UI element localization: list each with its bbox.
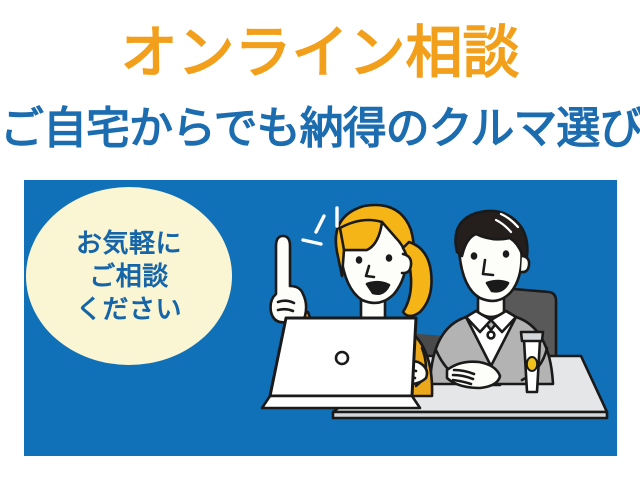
page-title: オンライン相談 [0,22,640,84]
woman-eye-left [356,256,363,264]
page-subtitle: ご自宅からでも納得のクルマ選びを [0,104,640,154]
consultation-illustration [204,180,617,456]
banner-root: オンライン相談 ご自宅からでも納得のクルマ選びを お気軽に ご相談 ください [0,0,640,480]
laptop-logo-icon [336,352,348,364]
man-eye-left [471,252,478,260]
woman-hand-pointing [271,236,307,324]
laptop-base [262,396,420,408]
man-ear [521,256,529,272]
sparkle-icon-3 [303,240,321,244]
man-eye-right [503,250,510,258]
illustration-panel: お気軽に ご相談 ください [24,180,617,456]
woman-ponytail [403,242,432,316]
table-front-edge [333,412,607,418]
woman-eye-right [386,254,393,262]
speech-bubble-line-1: お気軽に [76,227,182,259]
coffee-cup-logo-icon [527,357,537,371]
woman-ear [402,254,411,273]
coffee-cup-lid [521,332,543,341]
speech-bubble-line-3: ください [76,293,182,325]
speech-bubble-text: お気軽に ご相談 ください [26,187,232,365]
illustration-svg [204,180,617,456]
sparkle-icon-1 [316,216,324,232]
speech-bubble-line-2: ご相談 [89,260,169,292]
man-shirt-button [488,332,495,339]
